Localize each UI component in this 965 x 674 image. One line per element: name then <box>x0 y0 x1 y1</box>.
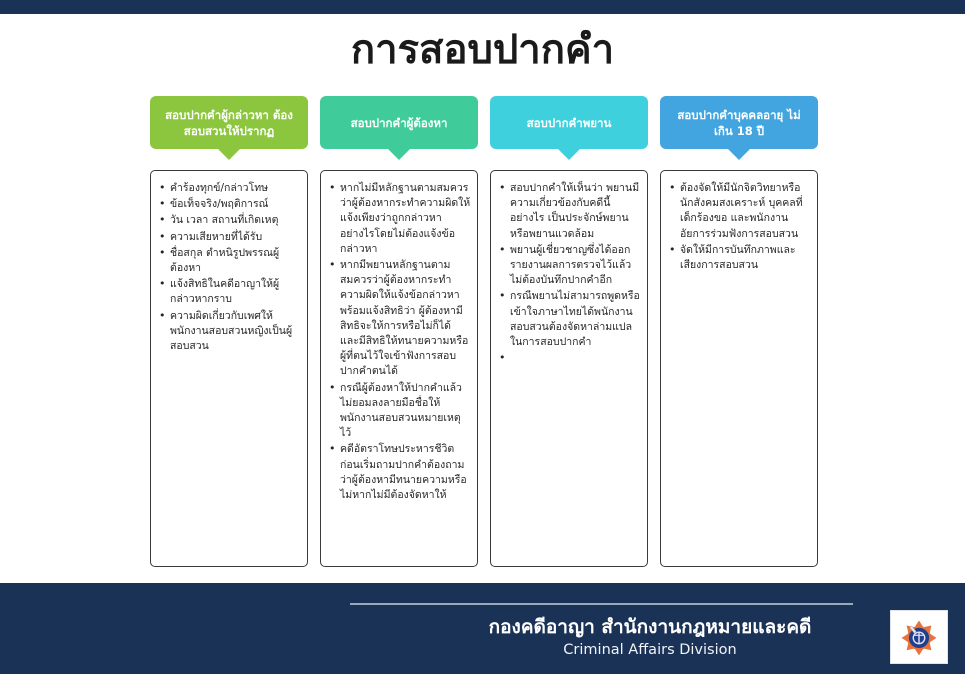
list-item: จัดให้มีการบันทึกภาพและเสียงการสอบสวน <box>667 243 811 273</box>
police-justice-emblem <box>890 610 948 664</box>
list-item: พยานผู้เชี่ยวชาญซึ่งได้ออกรายงานผลการตรว… <box>497 243 641 289</box>
list-item: ความเสียหายที่ได้รับ <box>157 230 301 245</box>
list-item: ความผิดเกี่ยวกับเพศให้พนักงานสอบสวนหญิงเ… <box>157 309 301 355</box>
page-title: การสอบปากคำ <box>0 26 965 74</box>
column-4-header[interactable]: สอบปากคำบุคคลอายุ ไม่เกิน 18 ปี <box>660 96 818 149</box>
footer: กองคดีอาญา สำนักงานกฎหมายและคดี Criminal… <box>430 614 870 660</box>
column-3-card: สอบปากคำให้เห็นว่า พยานมีความเกี่ยวข้องก… <box>490 170 648 567</box>
column-3-header[interactable]: สอบปากคำพยาน <box>490 96 648 149</box>
list-item: สอบปากคำให้เห็นว่า พยานมีความเกี่ยวข้องก… <box>497 181 641 242</box>
list-item: ชื่อสกุล ตำหนิรูปพรรณผู้ต้องหา <box>157 246 301 276</box>
column-2-card: หากไม่มีหลักฐานตามสมควรว่าผู้ต้องหากระทำ… <box>320 170 478 567</box>
list-item: คดีอัตราโทษประหารชีวิตก่อนเริ่มถามปากคำต… <box>327 442 471 503</box>
column-4-list: ต้องจัดให้มีนักจิตวิทยาหรือนักสังคมสงเคร… <box>667 181 811 273</box>
column-4: สอบปากคำบุคคลอายุ ไม่เกิน 18 ปี ต้องจัดใ… <box>660 96 818 149</box>
column-2-header-label: สอบปากคำผู้ต้องหา <box>351 115 448 131</box>
list-item: วัน เวลา สถานที่เกิดเหตุ <box>157 213 301 228</box>
column-4-header-label: สอบปากคำบุคคลอายุ ไม่เกิน 18 ปี <box>668 107 810 139</box>
column-3-list: สอบปากคำให้เห็นว่า พยานมีความเกี่ยวข้องก… <box>497 181 641 365</box>
column-3: สอบปากคำพยาน สอบปากคำให้เห็นว่า พยานมีคว… <box>490 96 648 149</box>
list-item: หากไม่มีหลักฐานตามสมควรว่าผู้ต้องหากระทำ… <box>327 181 471 257</box>
list-item: ข้อเท็จจริง/พฤติการณ์ <box>157 197 301 212</box>
footer-english-label: Criminal Affairs Division <box>430 640 870 660</box>
column-4-card: ต้องจัดให้มีนักจิตวิทยาหรือนักสังคมสงเคร… <box>660 170 818 567</box>
column-1-header-label: สอบปากคำผู้กล่าวหา ต้องสอบสวนให้ปรากฏ <box>158 107 300 139</box>
list-item <box>497 351 641 365</box>
list-item: หากมีพยานหลักฐานตามสมควรว่าผู้ต้องหากระท… <box>327 258 471 380</box>
column-1-list: คำร้องทุกข์/กล่าวโทษข้อเท็จจริง/พฤติการณ… <box>157 181 301 354</box>
emblem-icon <box>896 614 942 660</box>
column-1-header[interactable]: สอบปากคำผู้กล่าวหา ต้องสอบสวนให้ปรากฏ <box>150 96 308 149</box>
list-item: ต้องจัดให้มีนักจิตวิทยาหรือนักสังคมสงเคร… <box>667 181 811 242</box>
column-2: สอบปากคำผู้ต้องหา หากไม่มีหลักฐานตามสมคว… <box>320 96 478 149</box>
column-1-card: คำร้องทุกข์/กล่าวโทษข้อเท็จจริง/พฤติการณ… <box>150 170 308 567</box>
column-3-header-label: สอบปากคำพยาน <box>527 115 612 131</box>
column-1: สอบปากคำผู้กล่าวหา ต้องสอบสวนให้ปรากฏ คำ… <box>150 96 308 149</box>
list-item: แจ้งสิทธิในคดีอาญาให้ผู้กล่าวหากราบ <box>157 277 301 307</box>
list-item: กรณีผู้ต้องหาให้ปากคำแล้วไม่ยอมลงลายมือช… <box>327 381 471 442</box>
column-2-header[interactable]: สอบปากคำผู้ต้องหา <box>320 96 478 149</box>
list-item: กรณีพยานไม่สามารถพูดหรือเข้าใจภาษาไทยได้… <box>497 289 641 350</box>
footer-divider <box>350 603 853 605</box>
slide-root: การสอบปากคำ สอบปากคำผู้กล่าวหา ต้องสอบสว… <box>0 0 965 674</box>
top-navy-bar <box>0 0 965 14</box>
footer-thai-label: กองคดีอาญา สำนักงานกฎหมายและคดี <box>430 614 870 640</box>
list-item: คำร้องทุกข์/กล่าวโทษ <box>157 181 301 196</box>
column-2-list: หากไม่มีหลักฐานตามสมควรว่าผู้ต้องหากระทำ… <box>327 181 471 503</box>
